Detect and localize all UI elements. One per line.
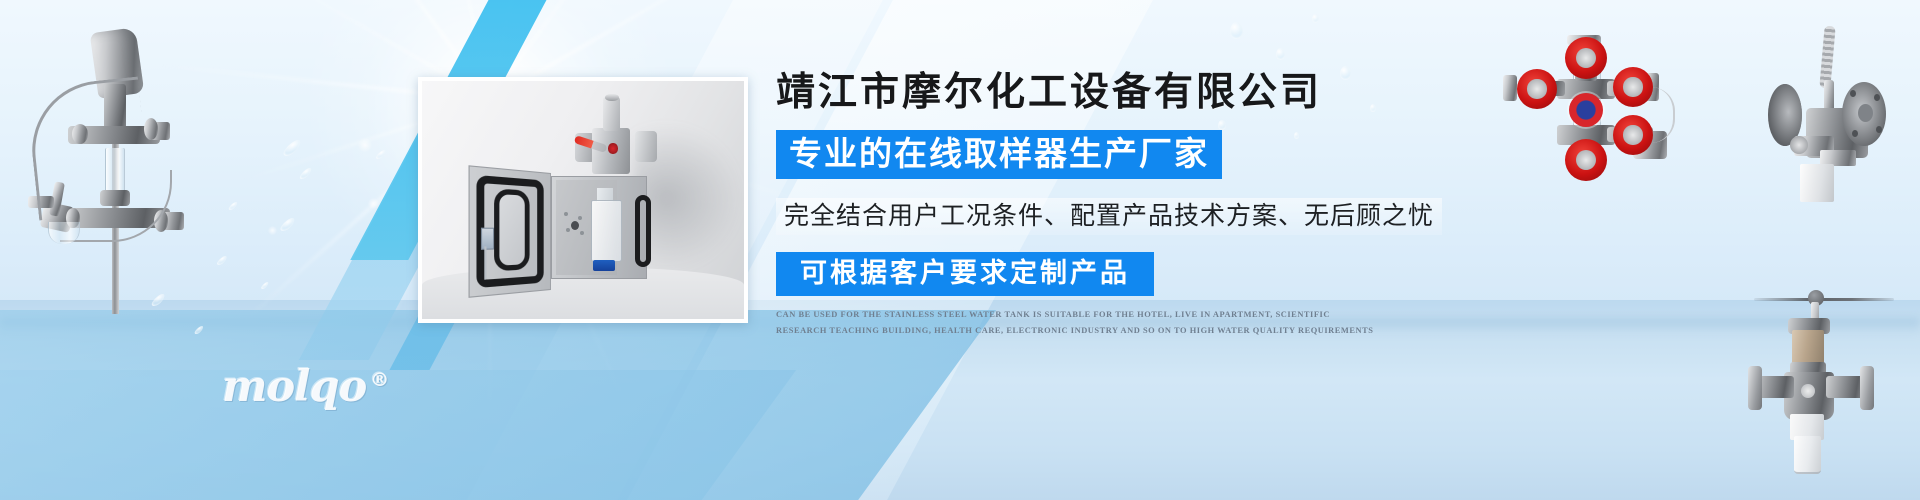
center-product-photo <box>418 77 748 323</box>
tagline-badge: 专业的在线取样器生产厂家 <box>776 130 1222 179</box>
company-logo-badge-icon <box>1569 93 1603 127</box>
right-product-lever-valve <box>1766 24 1916 214</box>
description-text: 完全结合用户工况条件、配置产品技术方案、无后顾之忧 <box>776 198 1442 235</box>
left-product-sampler-assembly <box>8 22 198 312</box>
text-content-block: 靖江市摩尔化工设备有限公司 专业的在线取样器生产厂家 完全结合用户工况条件、配置… <box>776 72 1416 339</box>
right-product-valve-manifold <box>1495 35 1695 175</box>
watermark-logo: molqo® <box>222 362 388 412</box>
custom-product-badge: 可根据客户要求定制产品 <box>776 252 1154 296</box>
watermark-registered-mark: ® <box>370 369 388 391</box>
watermark-text: molqo <box>222 362 366 412</box>
promotional-banner: 靖江市摩尔化工设备有限公司 专业的在线取样器生产厂家 完全结合用户工况条件、配置… <box>0 0 1920 500</box>
company-name-heading: 靖江市摩尔化工设备有限公司 <box>776 72 1416 115</box>
right-product-needle-valve <box>1748 280 1908 495</box>
english-description-text: CAN BE USED FOR THE STAINLESS STEEL WATE… <box>776 307 1376 340</box>
